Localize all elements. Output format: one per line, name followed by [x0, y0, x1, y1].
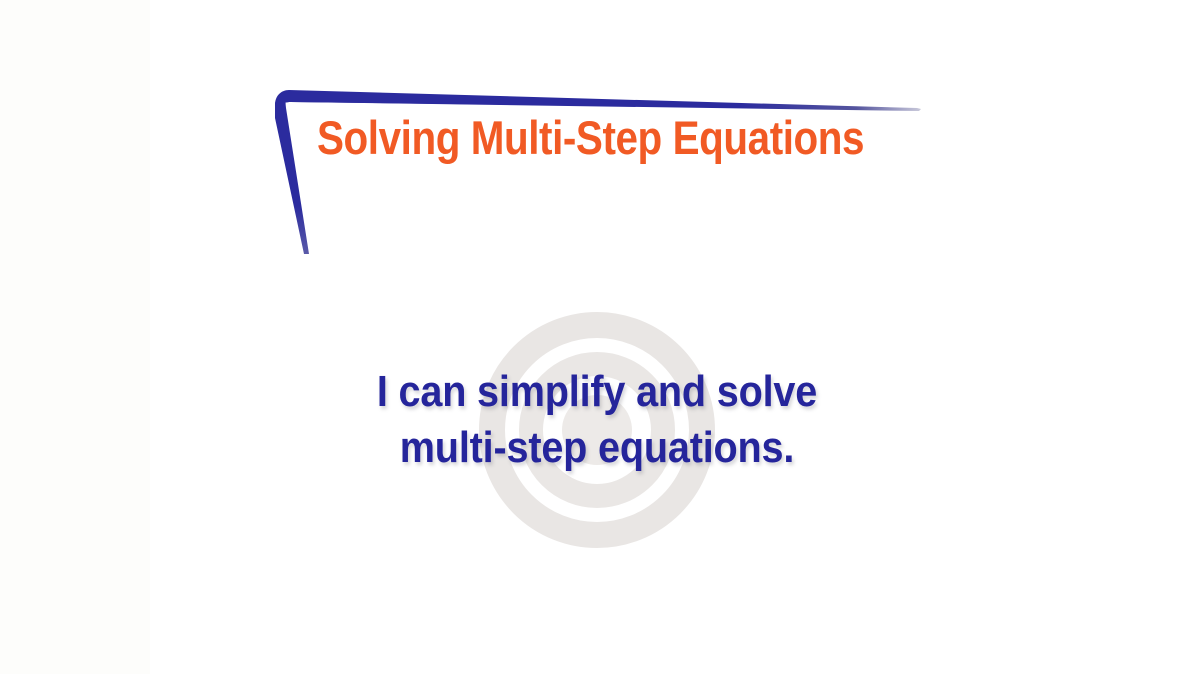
objective-line-1: I can simplify and solve	[232, 364, 963, 420]
slide-canvas: Solving Multi-Step Equations I can simpl…	[191, 32, 1003, 632]
slide-viewer: Solving Multi-Step Equations I can simpl…	[0, 0, 1200, 674]
letterbox-band-left	[0, 0, 150, 674]
objective-block: I can simplify and solve multi-step equa…	[191, 364, 1003, 476]
title-block: Solving Multi-Step Equations	[317, 114, 957, 161]
objective-line-2: multi-step equations.	[232, 420, 963, 476]
blue-corner-swoosh-icon	[271, 84, 931, 256]
page-title: Solving Multi-Step Equations	[317, 114, 867, 161]
